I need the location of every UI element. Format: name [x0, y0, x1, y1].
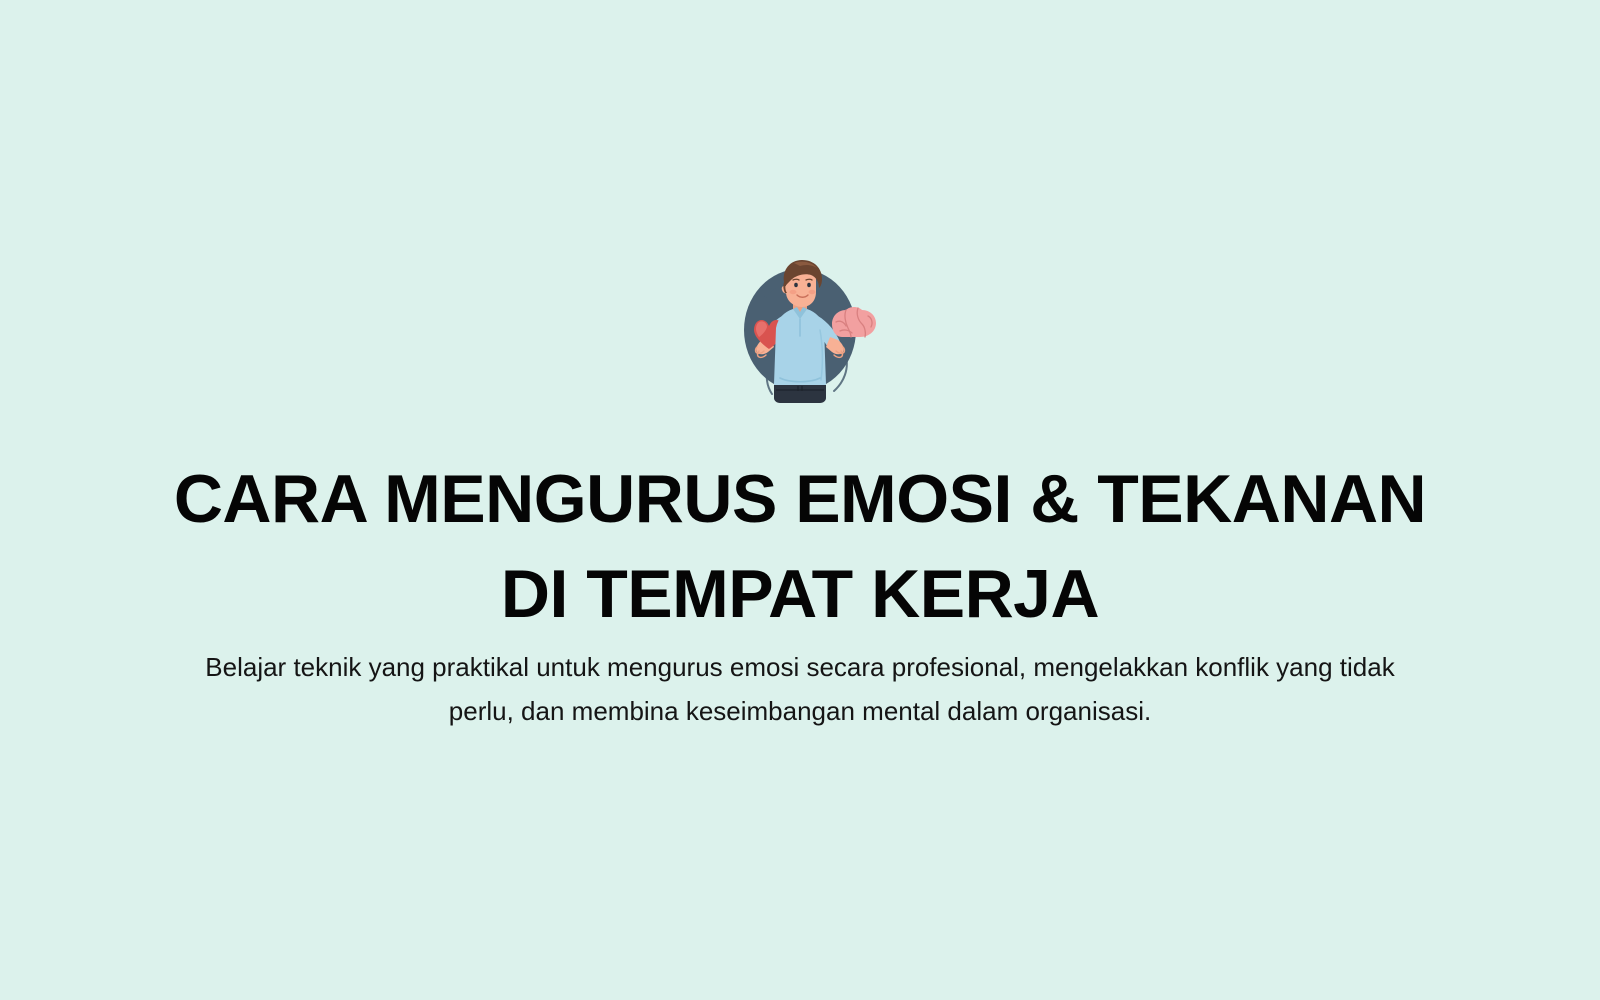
title-line-1: CARA MENGURUS EMOSI & TEKANAN	[0, 452, 1600, 547]
title-line-2: DI TEMPAT KERJA	[0, 547, 1600, 642]
page-subtitle: Belajar teknik yang praktikal untuk meng…	[110, 645, 1490, 733]
page-title: CARA MENGURUS EMOSI & TEKANAN DI TEMPAT …	[0, 452, 1600, 642]
subtitle-line-1: Belajar teknik yang praktikal untuk meng…	[110, 645, 1490, 689]
subtitle-line-2: perlu, dan membina keseimbangan mental d…	[110, 689, 1490, 733]
man-holding-heart-and-brain-illustration	[710, 252, 890, 408]
slide-canvas: CARA MENGURUS EMOSI & TEKANAN DI TEMPAT …	[0, 0, 1600, 1000]
